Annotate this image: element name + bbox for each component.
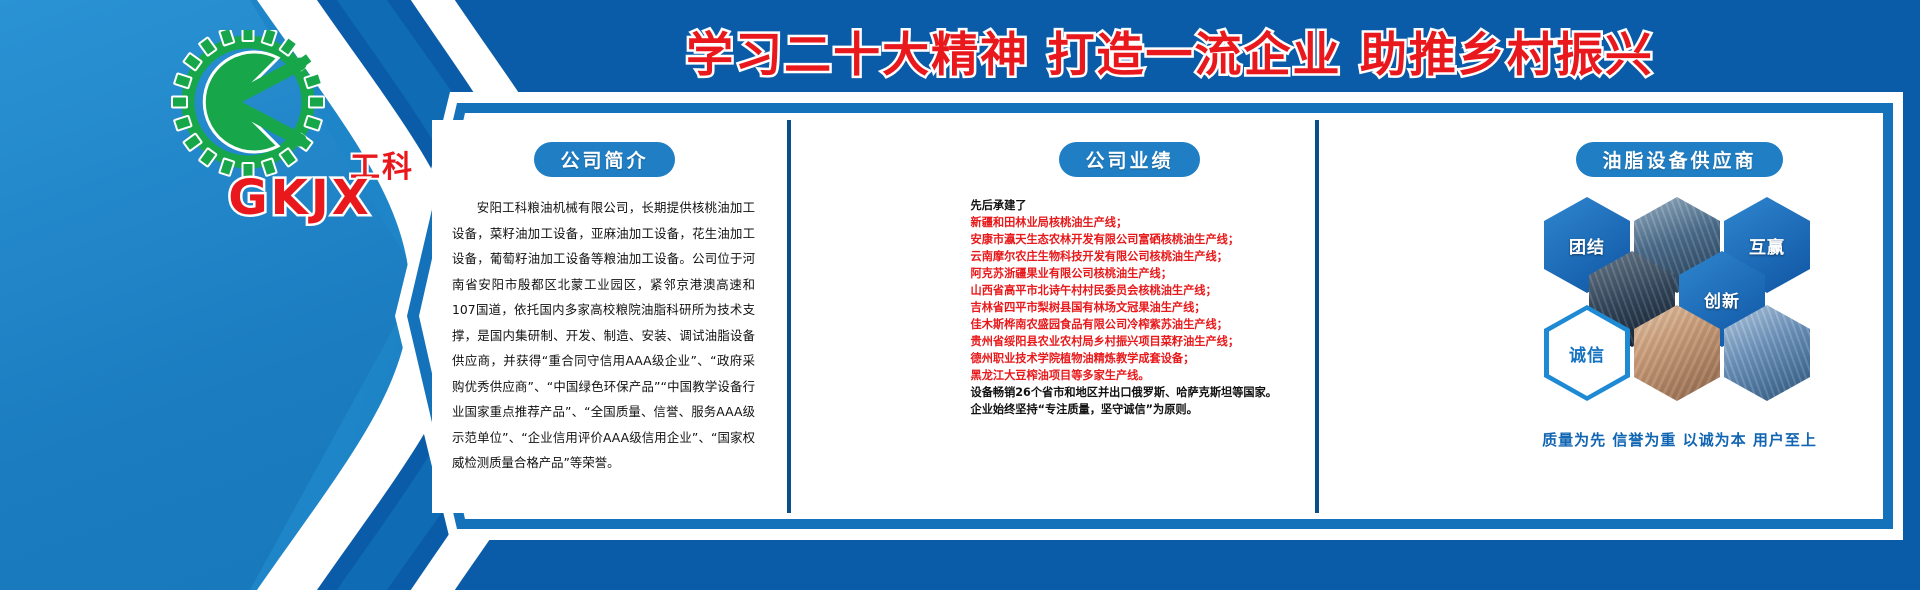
panel-header-wrap: 公司简介 [432, 142, 777, 177]
performance-lead: 先后承建了 [971, 197, 1295, 214]
performance-item: 佳木斯桦南农盛园食品有限公司冷榨紫苏油生产线； [971, 316, 1295, 333]
panel-title-company-profile: 公司简介 [534, 142, 674, 177]
gap-2 [1329, 120, 1473, 513]
performance-tail-list: 设备畅销26个省市和地区并出口俄罗斯、哈萨克斯坦等国家。企业始终坚持“专注质量，… [971, 384, 1295, 418]
hexagon-label: 团结 [1569, 233, 1605, 258]
performance-item: 新疆和田林业局核桃油生产线； [971, 214, 1295, 231]
panel-company-profile: 公司简介 安阳工科粮油机械有限公司，长期提供核桃油加工设备，菜籽油加工设备，亚麻… [432, 120, 777, 513]
performance-item: 云南摩尔农庄生物科技开发有限公司核桃油生产线； [971, 248, 1295, 265]
panel-divider-1 [787, 120, 791, 513]
performance-item: 安康市瀛天生态农林开发有限公司富硒核桃油生产线； [971, 231, 1295, 248]
hexagon-label: 互赢 [1749, 233, 1785, 258]
company-performance-body: 先后承建了 新疆和田林业局核桃油生产线；安康市瀛天生态农林开发有限公司富硒核桃油… [971, 197, 1295, 418]
panel-header-wrap: 油脂设备供应商 [1482, 142, 1877, 177]
hexagon-cluster: 团结互赢创新诚信 [1482, 193, 1877, 423]
panels-container: 公司简介 安阳工科粮油机械有限公司，长期提供核桃油加工设备，菜籽油加工设备，亚麻… [432, 120, 1877, 513]
performance-item: 贵州省绥阳县农业农村局乡村振兴项目菜籽油生产线； [971, 333, 1295, 350]
performance-item: 黑龙江大豆榨油项目等多家生产线。 [971, 367, 1295, 384]
panel-header-wrap: 公司业绩 [955, 142, 1305, 177]
hexagon-label: 诚信 [1569, 341, 1605, 366]
performance-item-list: 新疆和田林业局核桃油生产线；安康市瀛天生态农林开发有限公司富硒核桃油生产线；云南… [971, 214, 1295, 384]
supplier-slogan: 质量为先 信誉为重 以诚为本 用户至上 [1482, 429, 1877, 450]
performance-item: 山西省高平市北诗午村村民委员会核桃油生产线； [971, 282, 1295, 299]
performance-item: 阿克苏浙疆果业有限公司核桃油生产线； [971, 265, 1295, 282]
hexagon-inner: 诚信 [1549, 310, 1625, 396]
panel-title-oil-equipment-supplier: 油脂设备供应商 [1576, 142, 1782, 177]
panel-divider-2 [1315, 120, 1319, 513]
gap-1 [801, 120, 945, 513]
performance-item: 德州职业技术学院植物油精炼教学成套设备； [971, 350, 1295, 367]
company-profile-body: 安阳工科粮油机械有限公司，长期提供核桃油加工设备，菜籽油加工设备，亚麻油加工设备… [452, 195, 755, 476]
panel-title-company-performance: 公司业绩 [1059, 142, 1199, 177]
performance-note: 企业始终坚持“专注质量，坚守诚信”为原则。 [971, 401, 1295, 418]
panel-oil-equipment-supplier: 油脂设备供应商 团结互赢创新诚信 质量为先 信誉为重 以诚为本 用户至上 [1482, 120, 1877, 513]
page-title: 学习二十大精神 打造一流企业 助推乡村振兴 [430, 16, 1910, 85]
logo-english-text: GKJX [175, 170, 425, 226]
company-logo: 工科 GKJX [140, 30, 440, 230]
panel-company-performance: 公司业绩 先后承建了 新疆和田林业局核桃油生产线；安康市瀛天生态农林开发有限公司… [955, 120, 1305, 513]
hexagon-label: 创新 [1704, 287, 1740, 312]
poster-board: 工科 GKJX 学习二十大精神 打造一流企业 助推乡村振兴 公司简介 安阳工科粮… [0, 0, 1920, 590]
performance-item: 吉林省四平市梨树县国有林场文冠果油生产线； [971, 299, 1295, 316]
performance-note: 设备畅销26个省市和地区并出口俄罗斯、哈萨克斯坦等国家。 [971, 384, 1295, 401]
